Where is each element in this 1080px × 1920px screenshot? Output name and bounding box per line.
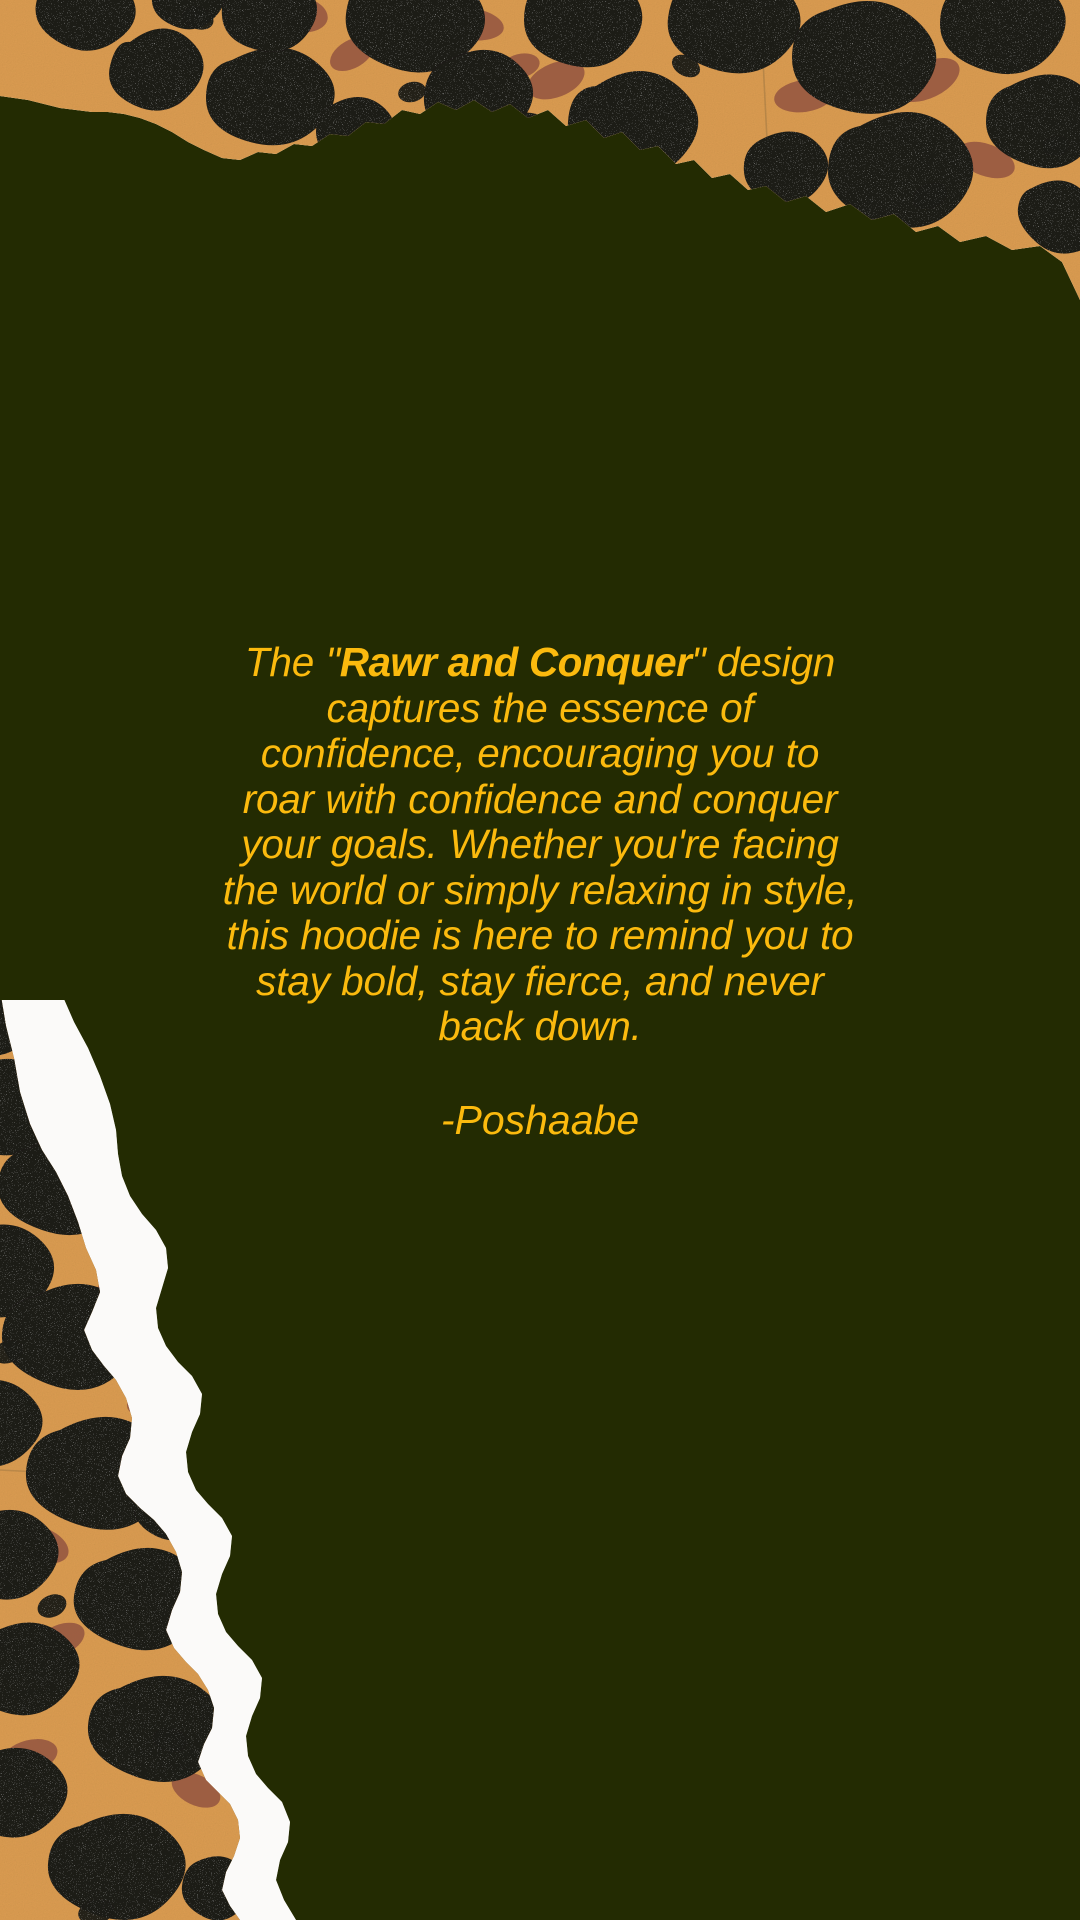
leopard-pattern-top (0, 0, 1080, 300)
quote-prefix: The " (245, 639, 340, 685)
quote-highlight: Rawr and Conquer (340, 639, 691, 685)
leopard-print-torn-paper-top (0, 0, 1080, 300)
quote-suffix: " design captures the essence of confide… (223, 639, 858, 1049)
poster-canvas: The "Rawr and Conquer" design captures t… (0, 0, 1080, 1920)
leopard-print-torn-paper-bottom-left (0, 1000, 420, 1920)
quote-text: The "Rawr and Conquer" design captures t… (220, 640, 860, 1050)
